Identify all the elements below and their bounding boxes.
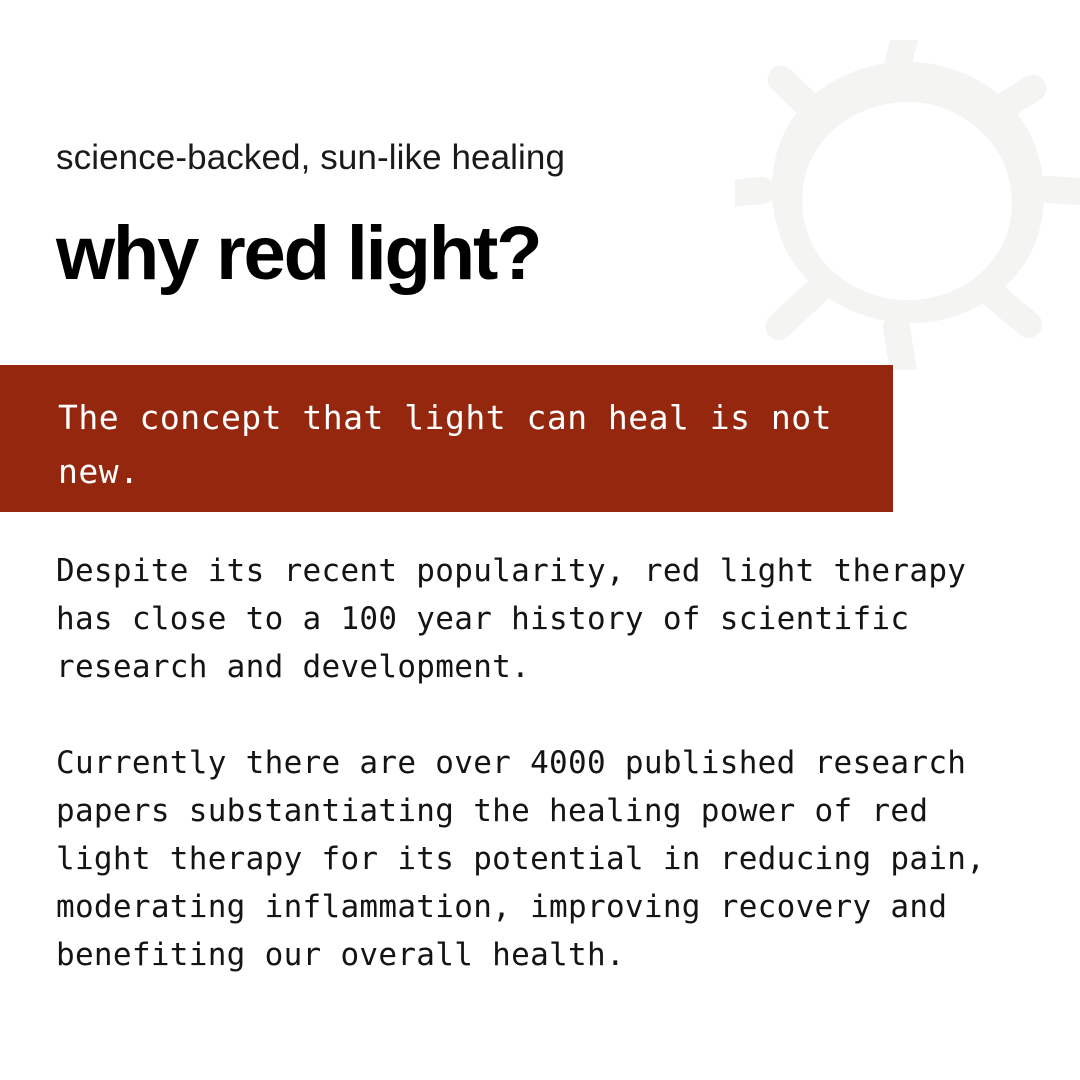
- page-title: why red light?: [56, 216, 540, 292]
- poster-canvas: science-backed, sun-like healing why red…: [0, 0, 1080, 1080]
- callout-text: The concept that light can heal is not n…: [58, 391, 873, 499]
- body-paragraph-2: Currently there are over 4000 published …: [56, 739, 1036, 979]
- body-paragraph-1: Despite its recent popularity, red light…: [56, 547, 1036, 691]
- eyebrow-text: science-backed, sun-like healing: [56, 138, 565, 178]
- body-copy: Despite its recent popularity, red light…: [56, 547, 1036, 979]
- callout-banner: The concept that light can heal is not n…: [0, 365, 893, 512]
- sun-icon: [735, 40, 1080, 370]
